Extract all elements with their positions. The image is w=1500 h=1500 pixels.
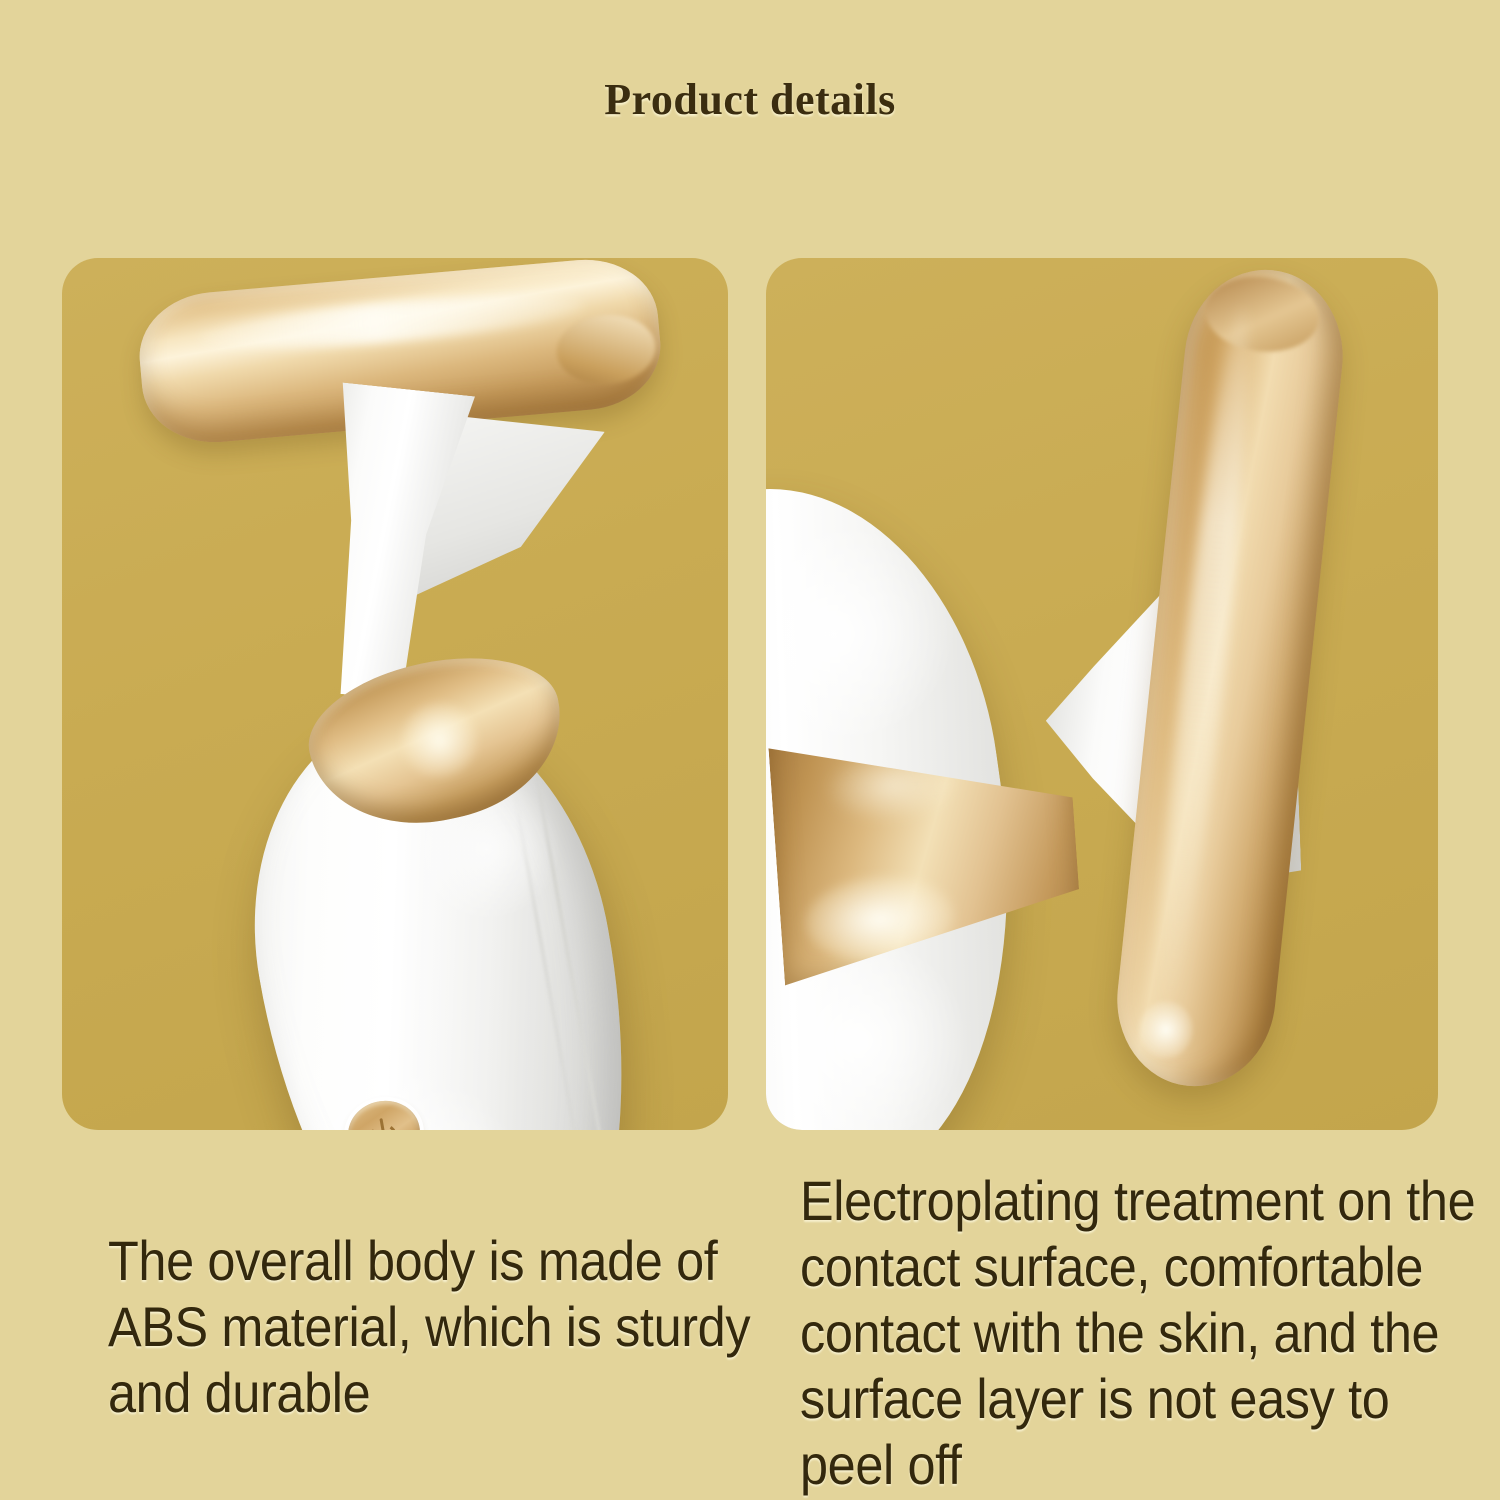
gold-collar-highlight bbox=[394, 695, 484, 785]
gold-head-highlight-side bbox=[1146, 306, 1262, 1028]
gold-head-highlight bbox=[199, 285, 586, 357]
page-title: Product details bbox=[0, 74, 1500, 125]
gold-head-tip-glow bbox=[1136, 999, 1195, 1062]
product-image-panel-right bbox=[766, 258, 1438, 1130]
gold-head-top-cap bbox=[1201, 272, 1322, 357]
gold-head-tip bbox=[554, 311, 658, 388]
body-seam-line bbox=[528, 739, 624, 1130]
body-seam-line-secondary bbox=[513, 793, 593, 1130]
product-image-panel-left bbox=[62, 258, 728, 1130]
power-symbol-icon bbox=[365, 1114, 402, 1130]
caption-left: The overall body is made of ABS material… bbox=[108, 1228, 792, 1426]
caption-right: Electroplating treatment on the contact … bbox=[800, 1168, 1484, 1498]
